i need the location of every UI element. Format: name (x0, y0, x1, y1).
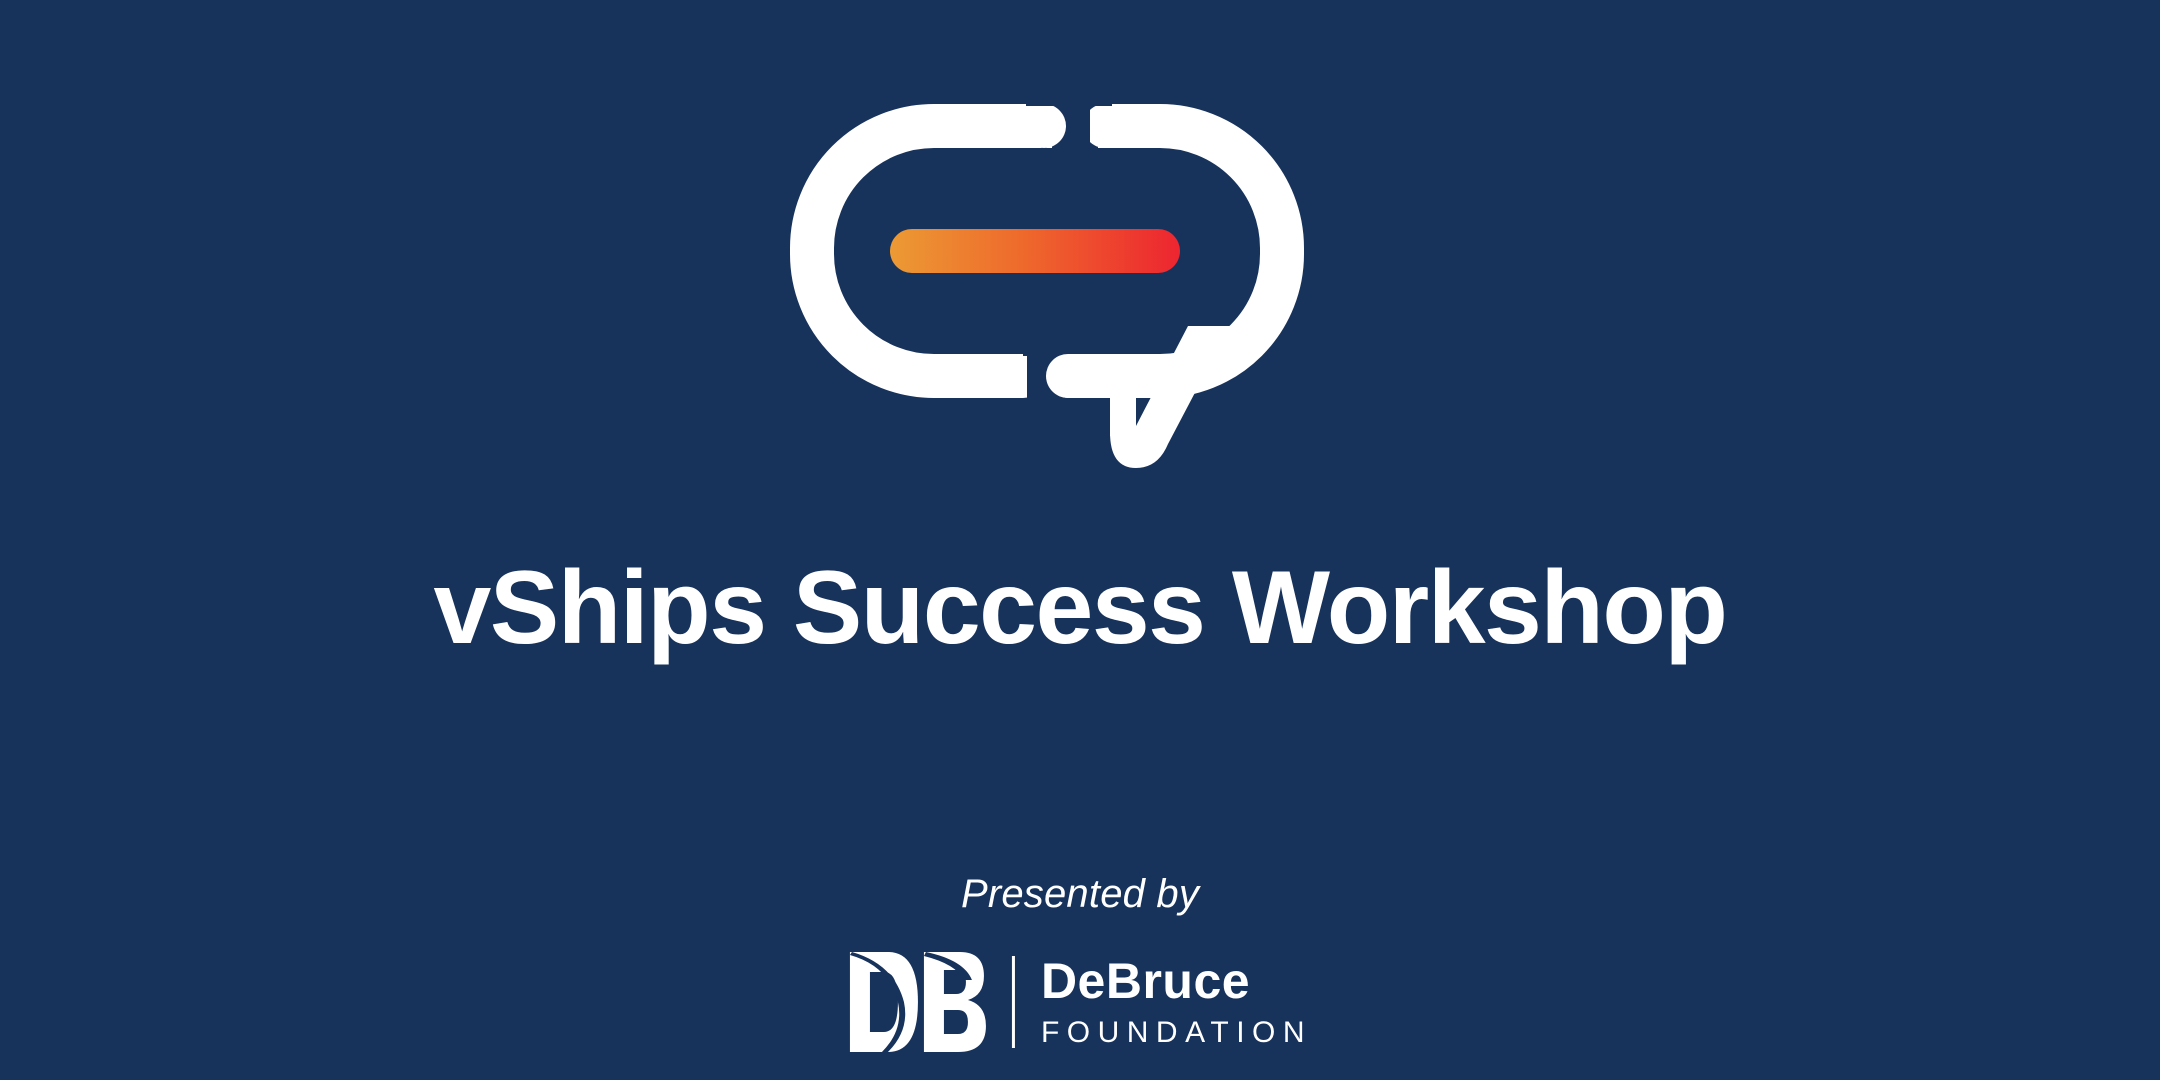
db-monogram-icon (848, 950, 990, 1054)
vships-speech-bubble-logo (780, 96, 1380, 496)
sponsor-subname: FOUNDATION (1041, 1018, 1312, 1048)
sponsor-wordmark: DeBruce FOUNDATION (1041, 952, 1312, 1052)
speech-bubble-tail (1001, 326, 1230, 468)
sponsor-name: DeBruce (1041, 956, 1312, 1006)
presented-by-label: Presented by (961, 872, 1199, 916)
gradient-bar (890, 229, 1180, 273)
title-block: vShips Success Workshop (0, 552, 2160, 664)
page-title: vShips Success Workshop (0, 552, 2160, 664)
lockup-divider (1012, 956, 1015, 1048)
slide-canvas: vShips Success Workshop Presented by DeB… (0, 0, 2160, 1080)
presented-by-block: Presented by (0, 872, 2160, 917)
sponsor-logo-lockup: DeBruce FOUNDATION (848, 950, 1312, 1054)
